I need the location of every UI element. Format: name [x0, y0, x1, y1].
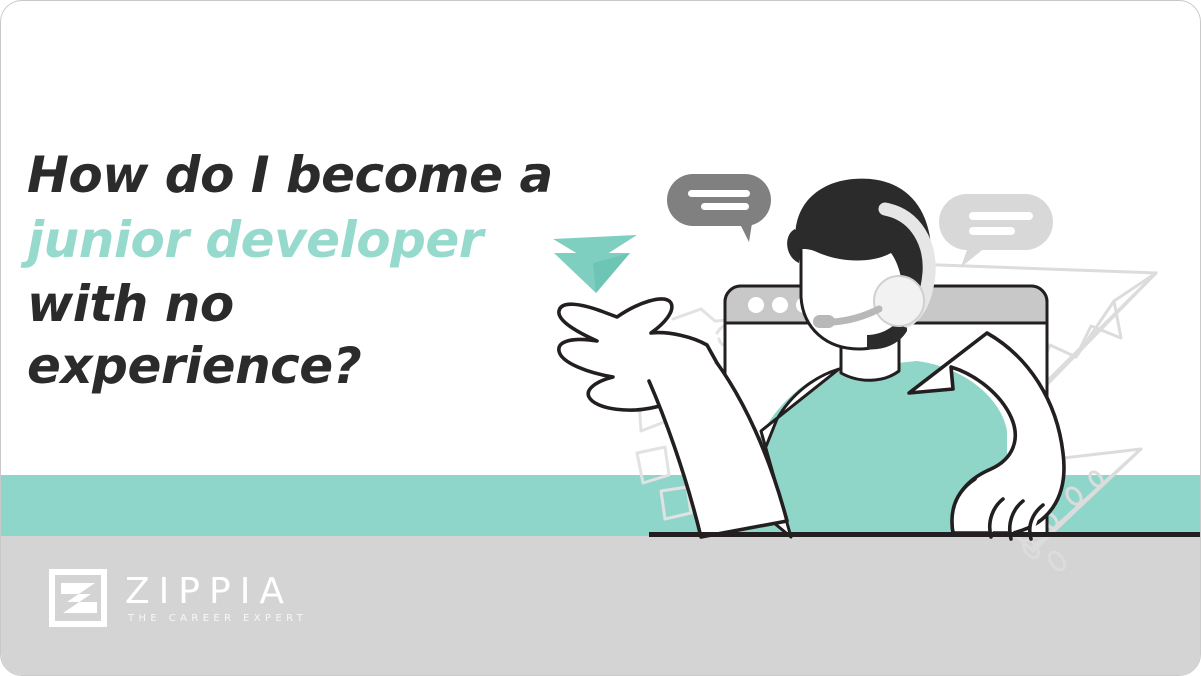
- zippia-z-mark: [49, 569, 107, 627]
- page-title: How do I become a junior developer with …: [27, 143, 547, 397]
- logo-tagline: THE CAREER EXPERT: [125, 612, 307, 626]
- monstera-leaf-outline: [951, 449, 1141, 573]
- headline-line-1: How do I become a: [27, 143, 547, 208]
- palm-leaf-outline: [886, 263, 1156, 401]
- background-doodle: [637, 309, 750, 519]
- headline-line-3: with no: [27, 273, 547, 335]
- headline-line-2-accent: junior developer: [27, 208, 547, 273]
- hero-card: How do I become a junior developer with …: [0, 0, 1201, 676]
- logo-name: ZIPPIA: [125, 572, 307, 612]
- headline-line-4: experience?: [27, 335, 547, 397]
- zippia-logo[interactable]: ZIPPIA THE CAREER EXPERT: [49, 569, 307, 627]
- zippia-wordmark: ZIPPIA THE CAREER EXPERT: [125, 570, 307, 626]
- desk-line: [649, 532, 1201, 537]
